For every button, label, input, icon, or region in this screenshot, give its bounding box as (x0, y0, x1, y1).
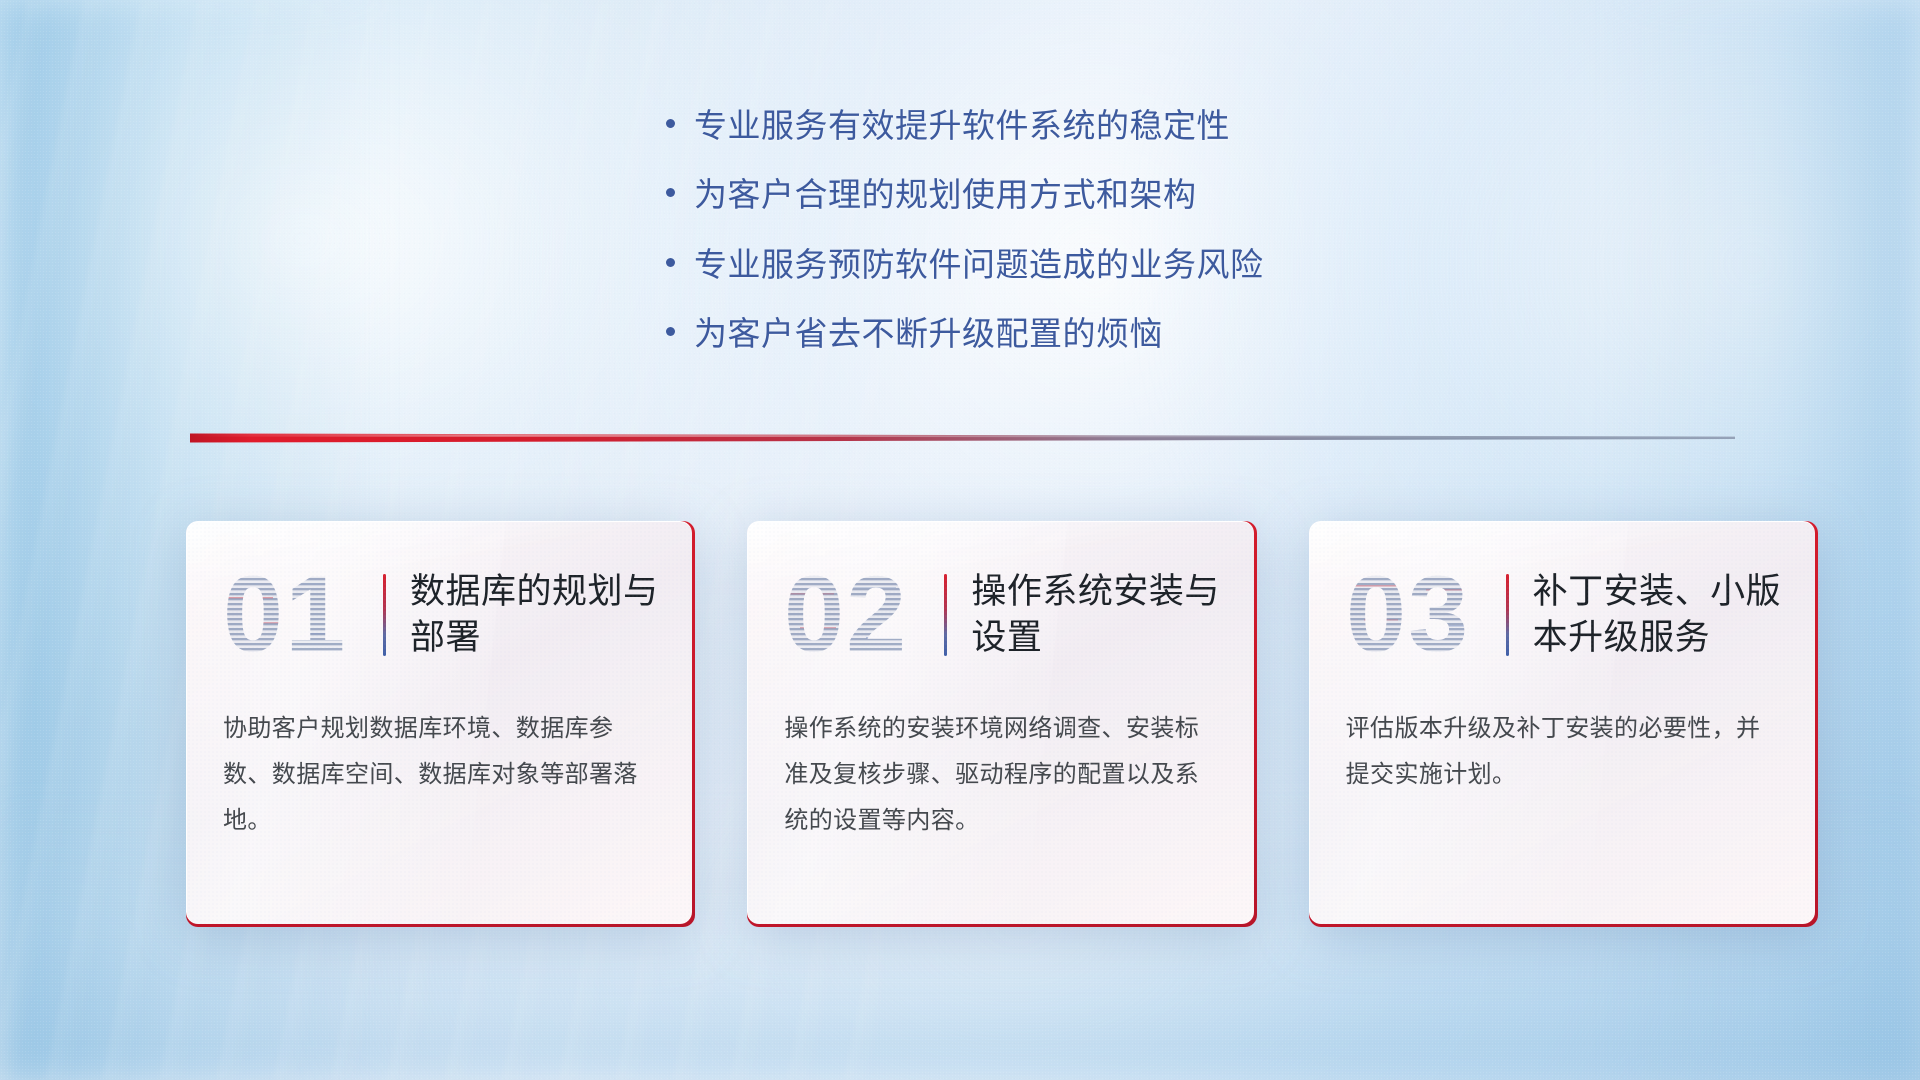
bullet-dot-icon (666, 105, 694, 128)
card-number-03-icon: 03 (1344, 563, 1496, 667)
card-title: 数据库的规划与部署 (410, 569, 662, 661)
card-number-glitch: 02 (782, 563, 934, 667)
service-card-row: 01 (186, 521, 1818, 927)
service-card[interactable]: 03 (1309, 521, 1818, 927)
card-header: 02 (748, 522, 1253, 672)
card-number-01-icon: 01 (221, 563, 373, 667)
card-header: 01 (187, 522, 692, 672)
card-title-rule (383, 574, 386, 656)
card-title-rule (1506, 574, 1509, 656)
bullet-dot-icon (666, 174, 694, 197)
card-title: 补丁安装、小版本升级服务 (1533, 569, 1785, 661)
list-item: 为客户合理的规划使用方式和架构 (666, 174, 1486, 215)
list-item: 为客户省去不断升级配置的烦恼 (666, 313, 1486, 354)
list-item: 专业服务预防软件问题造成的业务风险 (666, 244, 1486, 285)
tapered-divider-shape (190, 428, 1735, 450)
service-card[interactable]: 01 (186, 521, 695, 927)
card-number-02-icon: 02 (782, 563, 934, 667)
bullet-text: 为客户省去不断升级配置的烦恼 (694, 313, 1486, 354)
card-surface: 03 (1309, 521, 1815, 924)
bullet-text: 专业服务有效提升软件系统的稳定性 (694, 105, 1486, 146)
list-item: 专业服务有效提升软件系统的稳定性 (666, 105, 1486, 146)
card-body-text: 操作系统的安装环境网络调查、安装标准及复核步骤、驱动程序的配置以及系统的设置等内… (748, 672, 1253, 844)
benefit-bullet-list: 专业服务有效提升软件系统的稳定性 为客户合理的规划使用方式和架构 专业服务预防软… (666, 105, 1486, 382)
card-surface: 01 (186, 521, 692, 924)
bullet-text: 专业服务预防软件问题造成的业务风险 (694, 244, 1486, 285)
card-title-rule (944, 574, 947, 656)
section-divider (190, 428, 1735, 450)
bullet-dot-icon (666, 244, 694, 267)
card-body-text: 协助客户规划数据库环境、数据库参数、数据库空间、数据库对象等部署落地。 (187, 672, 692, 844)
card-body-text: 评估版本升级及补丁安装的必要性，并提交实施计划。 (1310, 672, 1815, 798)
card-header: 03 (1310, 522, 1815, 672)
bullet-dot-icon (666, 313, 694, 336)
bullet-text: 为客户合理的规划使用方式和架构 (694, 174, 1486, 215)
card-number-glitch: 01 (221, 563, 373, 667)
card-title: 操作系统安装与设置 (971, 569, 1223, 661)
card-surface: 02 (747, 521, 1253, 924)
card-number-glitch: 03 (1344, 563, 1496, 667)
service-card[interactable]: 02 (747, 521, 1256, 927)
